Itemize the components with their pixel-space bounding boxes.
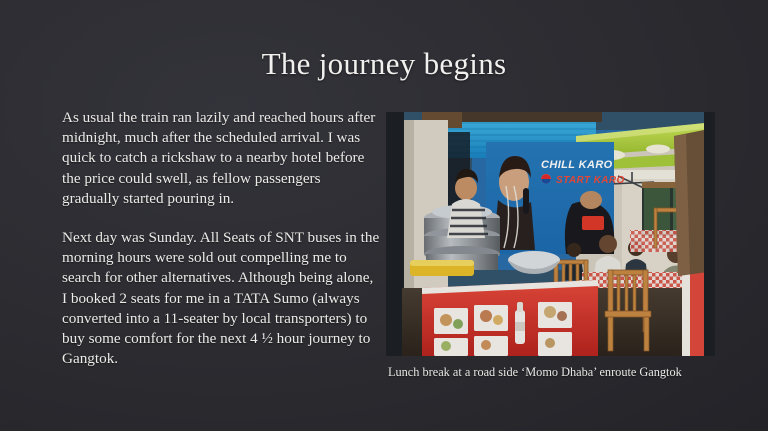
photo-illustration: CHILL KARO START KARO bbox=[386, 112, 715, 356]
slide-canvas: The journey begins As usual the train ra… bbox=[0, 0, 768, 431]
page-title: The journey begins bbox=[0, 44, 768, 84]
photo-figure: CHILL KARO START KARO bbox=[386, 112, 715, 356]
body-text-column: As usual the train ran lazily and reache… bbox=[62, 108, 380, 369]
photo-momo-dhaba: CHILL KARO START KARO bbox=[386, 112, 715, 356]
paragraph-2: Next day was Sunday. All Seats of SNT bu… bbox=[62, 228, 380, 369]
paragraph-1: As usual the train ran lazily and reache… bbox=[62, 108, 380, 209]
photo-caption: Lunch break at a road side ‘Momo Dhaba’ … bbox=[388, 364, 728, 380]
